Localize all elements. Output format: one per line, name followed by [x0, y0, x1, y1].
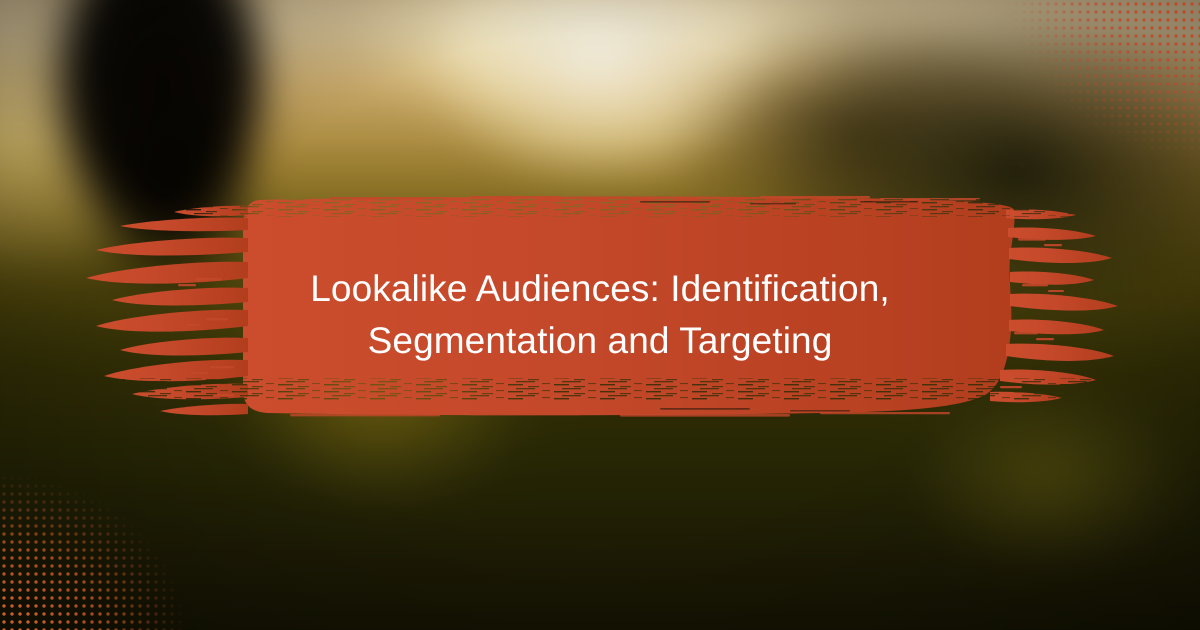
halftone-dots-bottom-left-icon [0, 436, 234, 630]
social-share-card: Lookalike Audiences: Identification, Seg… [0, 0, 1200, 630]
brush-stroke-banner [0, 180, 1200, 450]
halftone-dots-top-right-icon [966, 0, 1200, 194]
brush-stroke-shape-icon [0, 180, 1200, 450]
